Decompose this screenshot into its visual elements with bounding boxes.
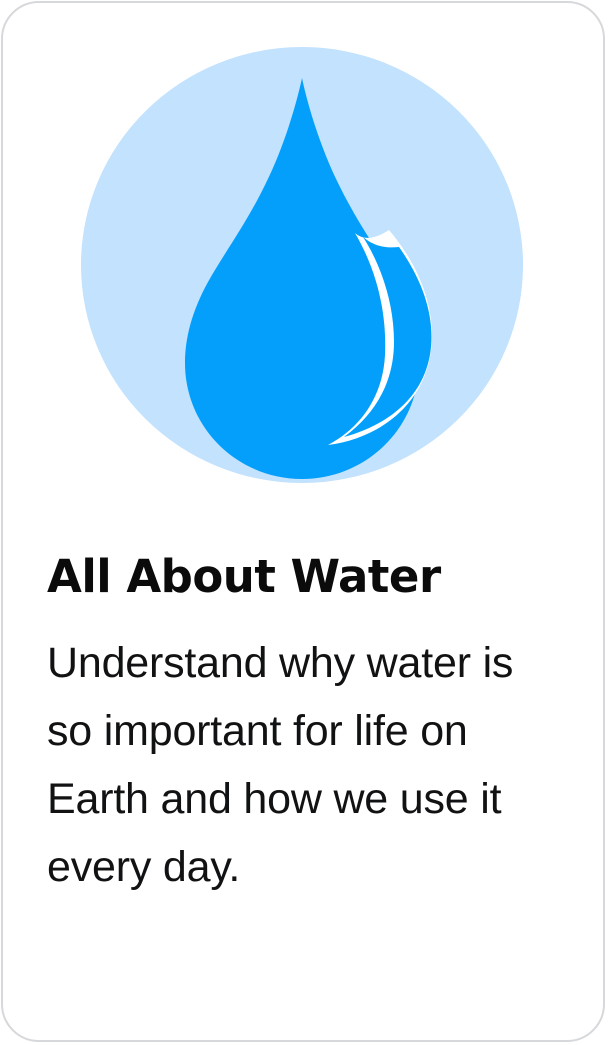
water-topic-card[interactable]: All About Water Understand why water is …: [1, 1, 605, 1042]
card-title: All About Water: [47, 547, 567, 607]
card-text-block: All About Water Understand why water is …: [47, 547, 567, 901]
card-icon-area: [3, 3, 605, 503]
card-description: Understand why water is so important for…: [47, 629, 547, 901]
water-drop-icon: [81, 47, 523, 483]
